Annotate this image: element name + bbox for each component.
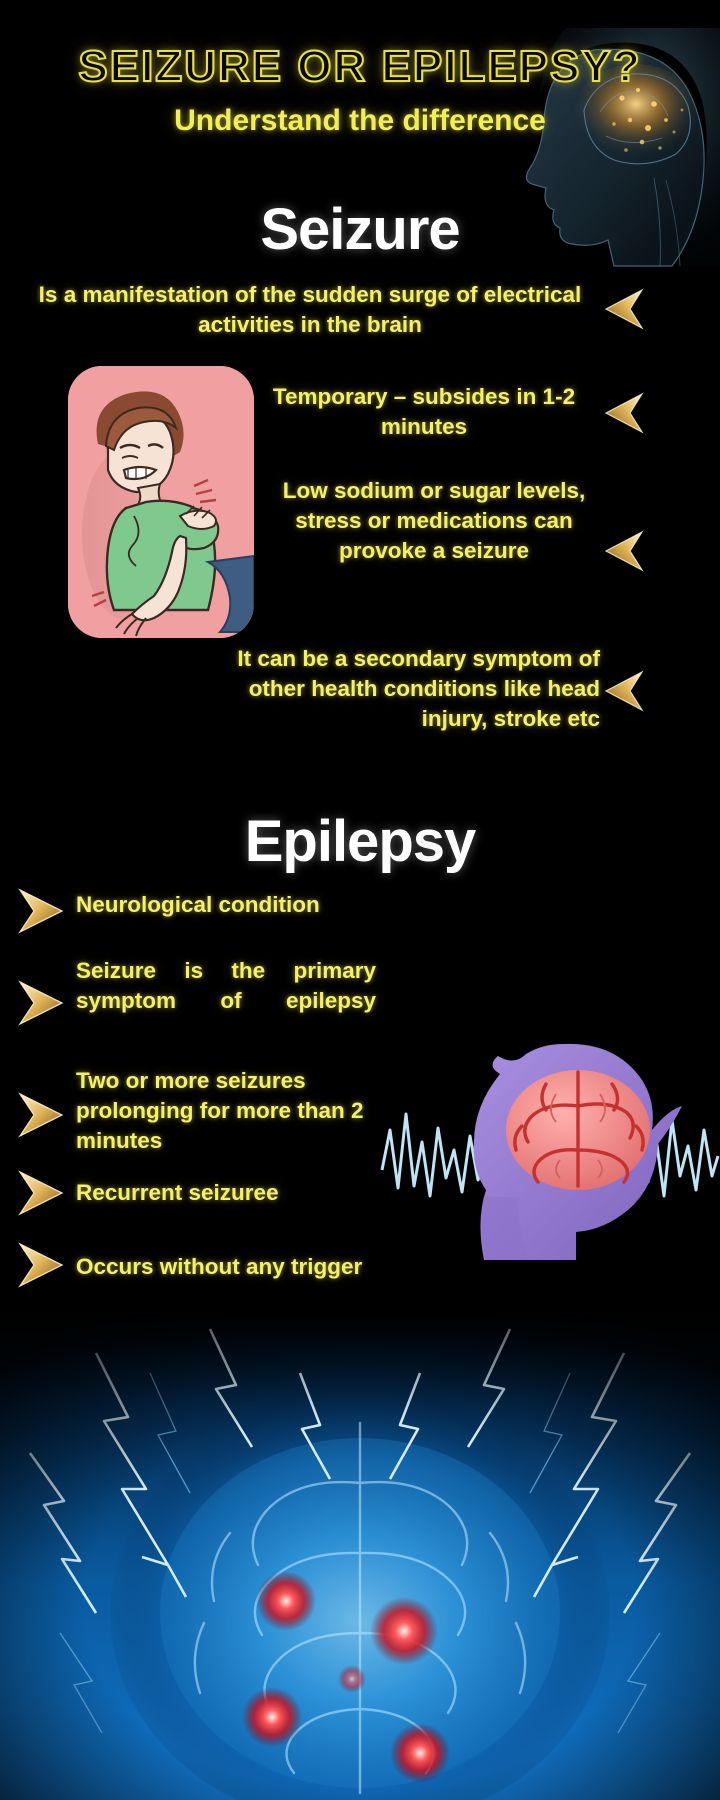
list-item: Two or more seizures prolonging for more… [0,1066,420,1156]
arrow-right-icon [14,978,66,1028]
purple-head-with-brain-and-eeg-waves [380,1010,720,1260]
arrow-left-icon [600,668,646,714]
seizure-bullet-2-text: Temporary – subsides in 1-2 minutes [248,382,600,442]
page-title: SEIZURE OR EPILEPSY? [0,42,720,92]
epilepsy-bullet-3-text: Two or more seizures prolonging for more… [76,1066,420,1156]
list-item: It can be a secondary symptom of other h… [196,644,600,734]
epilepsy-bullet-5-text: Occurs without any trigger [76,1252,440,1282]
seizure-bullet-1-text: Is a manifestation of the sudden surge o… [20,280,600,340]
page-subtitle: Understand the difference [0,104,720,138]
seizure-bullet-4-text: It can be a secondary symptom of other h… [196,644,600,734]
header: SEIZURE OR EPILEPSY? Understand the diff… [0,0,720,200]
infographic-poster: SEIZURE OR EPILEPSY? Understand the diff… [0,0,720,1800]
epilepsy-bullet-1-text: Neurological condition [76,890,420,920]
epilepsy-bullet-4-text: Recurrent seizuree [76,1178,420,1208]
list-item: Temporary – subsides in 1-2 minutes [248,382,600,442]
seizure-bullet-3-text: Low sodium or sugar levels, stress or me… [268,476,600,566]
arrow-left-icon [600,286,646,332]
arrow-left-icon [600,390,646,436]
epilepsy-bullet-2-text: Seizure is the primary symptom of epilep… [76,956,376,1016]
person-having-seizure-illustration [68,366,254,638]
list-item: Neurological condition [0,890,420,920]
list-item: Recurrent seizuree [0,1178,420,1208]
arrow-right-icon [14,1240,66,1290]
section-heading-epilepsy: Epilepsy [0,808,720,875]
list-item: Is a manifestation of the sudden surge o… [20,280,600,340]
section-heading-seizure: Seizure [0,196,720,263]
list-item: Low sodium or sugar levels, stress or me… [268,476,600,566]
arrow-right-icon [14,1090,66,1140]
arrow-left-icon [600,528,646,574]
list-item: Occurs without any trigger [0,1252,440,1282]
arrow-right-icon [14,886,66,936]
list-item: Seizure is the primary symptom of epilep… [0,956,380,1016]
arrow-right-icon [14,1168,66,1218]
brain-with-lightning-and-red-hotspots [0,1313,720,1800]
